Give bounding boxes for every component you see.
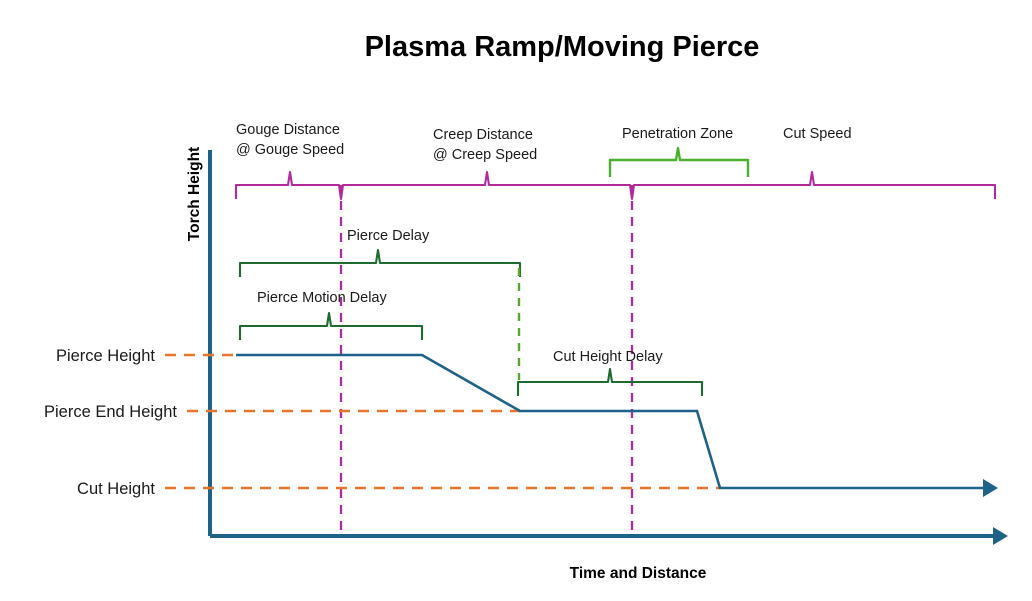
torch-height-signal bbox=[236, 355, 988, 488]
creep-phase-label: Creep Distance @ Creep Speed bbox=[433, 127, 537, 163]
pierce-motion-delay-label: Pierce Motion Delay bbox=[257, 290, 387, 306]
penetration-zone-label: Penetration Zone bbox=[622, 126, 733, 142]
gouge-phase-label: Gouge Distance @ Gouge Speed bbox=[236, 122, 344, 158]
y-axis-title: Torch Height bbox=[186, 147, 203, 241]
pierce-height-label: Pierce Height bbox=[56, 347, 155, 365]
plasma-ramp-diagram: Plasma Ramp/Moving Pierce Torch Height T… bbox=[0, 0, 1032, 596]
speed-rail-group bbox=[236, 172, 995, 199]
gouge-distance-label: Gouge Distance bbox=[236, 122, 340, 138]
axes bbox=[210, 150, 1008, 545]
pierce-end-height-label: Pierce End Height bbox=[44, 403, 177, 421]
creep-speed-label: @ Creep Speed bbox=[433, 147, 537, 163]
speed-rail bbox=[236, 172, 995, 199]
pierce-motion-delay-bracket bbox=[240, 313, 422, 340]
cut-height-delay-bracket bbox=[518, 369, 702, 396]
penetration-zone-bracket-group: Penetration Zone bbox=[610, 126, 748, 177]
cut-height-delay-bracket-group: Cut Height Delay bbox=[518, 349, 702, 396]
torch-height-arrowhead bbox=[983, 479, 998, 497]
gouge-speed-label: @ Gouge Speed bbox=[236, 142, 344, 158]
pierce-motion-delay-bracket-group: Pierce Motion Delay bbox=[240, 290, 422, 340]
pierce-delay-bracket bbox=[240, 250, 520, 277]
page-title: Plasma Ramp/Moving Pierce bbox=[365, 31, 760, 63]
x-axis-title: Time and Distance bbox=[570, 565, 707, 582]
pierce-delay-bracket-group: Pierce Delay bbox=[240, 228, 520, 277]
penetration-zone-bracket bbox=[610, 148, 748, 177]
cut-height-label: Cut Height bbox=[77, 480, 155, 498]
torch-height-profile bbox=[236, 355, 998, 497]
x-axis-arrowhead bbox=[993, 527, 1008, 545]
pierce-delay-label: Pierce Delay bbox=[347, 228, 430, 244]
cut-height-delay-label: Cut Height Delay bbox=[553, 349, 663, 365]
cut-speed-label: Cut Speed bbox=[783, 126, 852, 142]
creep-distance-label: Creep Distance bbox=[433, 127, 533, 143]
